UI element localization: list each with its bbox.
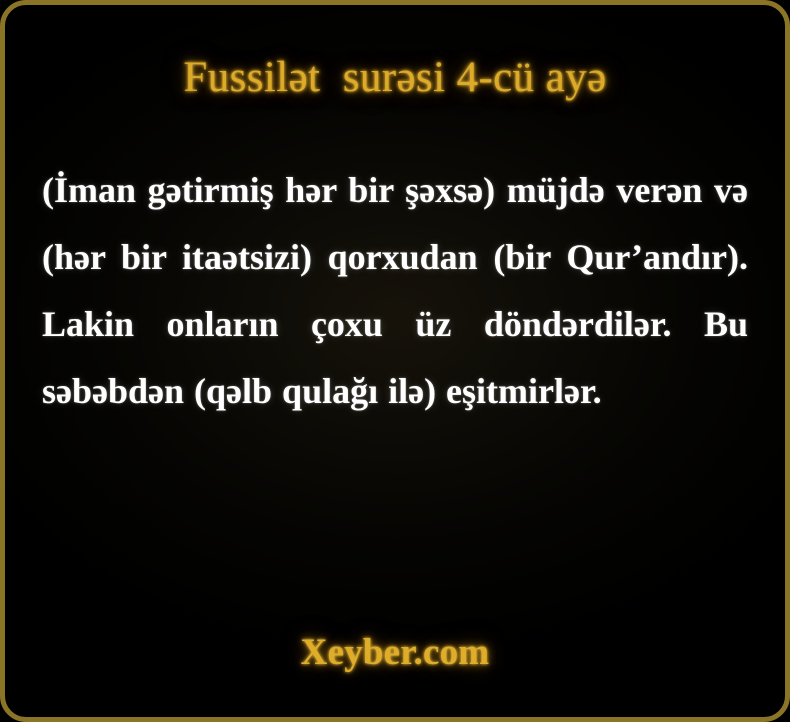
site-watermark: Xeyber.com xyxy=(5,631,785,674)
verse-body-text: (İman gətirmiş hər bir şəxsə) müjdə verə… xyxy=(42,157,748,425)
page-title: Fussilət surəsi 4-cü ayə xyxy=(5,53,785,103)
verse-card: Fussilət surəsi 4-cü ayə (İman gətirmiş … xyxy=(0,0,790,722)
card-content: Fussilət surəsi 4-cü ayə (İman gətirmiş … xyxy=(5,5,785,717)
